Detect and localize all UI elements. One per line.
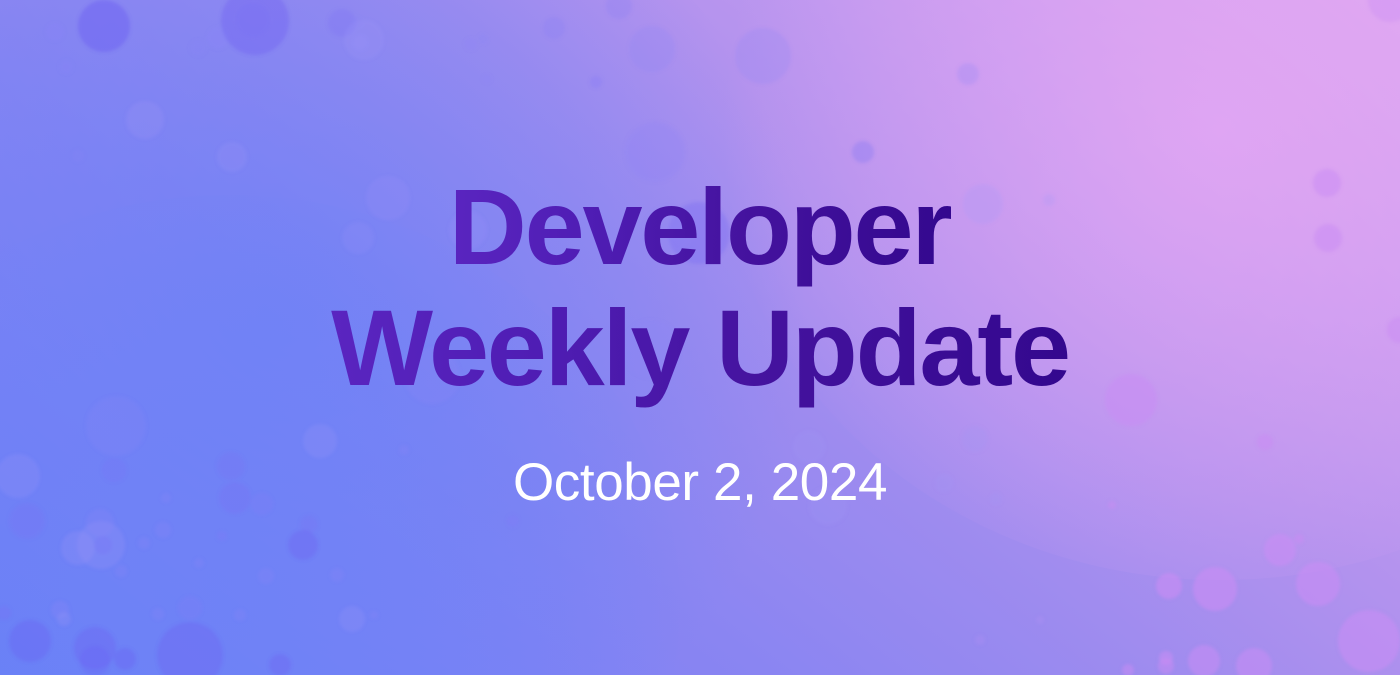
banner-content: Developer Weekly Update October 2, 2024 — [0, 0, 1400, 675]
banner-date-subtitle: October 2, 2024 — [513, 454, 887, 512]
banner-headline-line-1: Developer — [449, 163, 951, 290]
banner-headline-line-2: Weekly Update — [331, 284, 1069, 411]
hero-banner: Developer Weekly Update October 2, 2024 — [0, 0, 1400, 675]
